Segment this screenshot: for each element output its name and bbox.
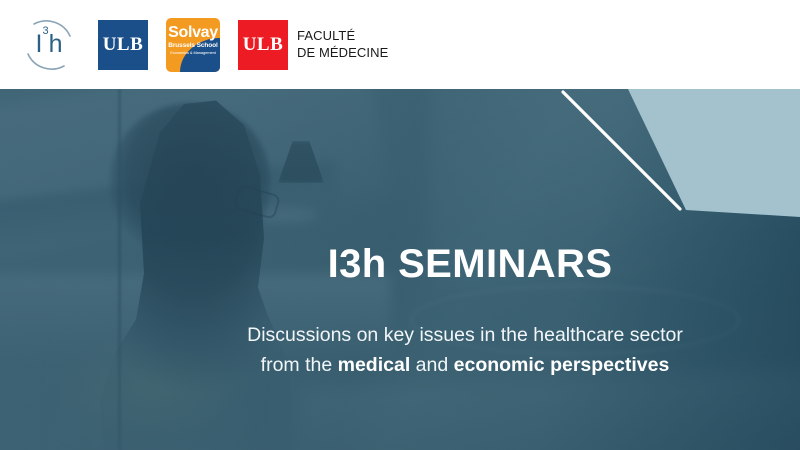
subtitle-line-2-pre: from the — [261, 354, 338, 376]
i3h-logo-label: I3h — [36, 32, 63, 57]
ulb-faculte-de-medecine-logo: ULB FACULTÉ DE MÉDECINE — [238, 20, 388, 70]
subtitle-line-2-mid: and — [410, 354, 453, 376]
page-title: I3h SEMINARS — [328, 244, 613, 284]
solvay-logo-line3: Economics & Management — [166, 50, 220, 56]
subtitle-bold-economic: economic perspectives — [454, 354, 670, 376]
solvay-brussels-school-logo: Solvay Brussels School Economics & Manag… — [166, 18, 220, 72]
faculte-text: FACULTÉ DE MÉDECINE — [297, 28, 388, 61]
solvay-logo-line2: Brussels School — [166, 41, 220, 51]
ulb-red-block: ULB — [238, 20, 288, 70]
hero-banner: I3h SEMINARS Discussions on key issues i… — [0, 89, 800, 450]
ulb-red-label: ULB — [243, 34, 284, 56]
ulb-logo: ULB — [98, 20, 148, 70]
seminar-title-slide: I3h ULB Solvay Brussels School Economics… — [0, 0, 800, 450]
subtitle-line-1: Discussions on key issues in the healthc… — [247, 324, 683, 346]
faculte-line2: DE MÉDECINE — [297, 45, 388, 62]
solvay-logo-line1: Solvay — [166, 25, 220, 41]
ulb-logo-label: ULB — [103, 34, 144, 56]
i3h-logo: I3h — [18, 14, 80, 76]
faculte-line1: FACULTÉ — [297, 28, 388, 45]
page-subtitle: Discussions on key issues in the healthc… — [247, 320, 683, 380]
logo-bar: I3h ULB Solvay Brussels School Economics… — [0, 0, 800, 89]
subtitle-bold-medical: medical — [338, 354, 411, 376]
hero-text-block: I3h SEMINARS Discussions on key issues i… — [0, 89, 800, 450]
